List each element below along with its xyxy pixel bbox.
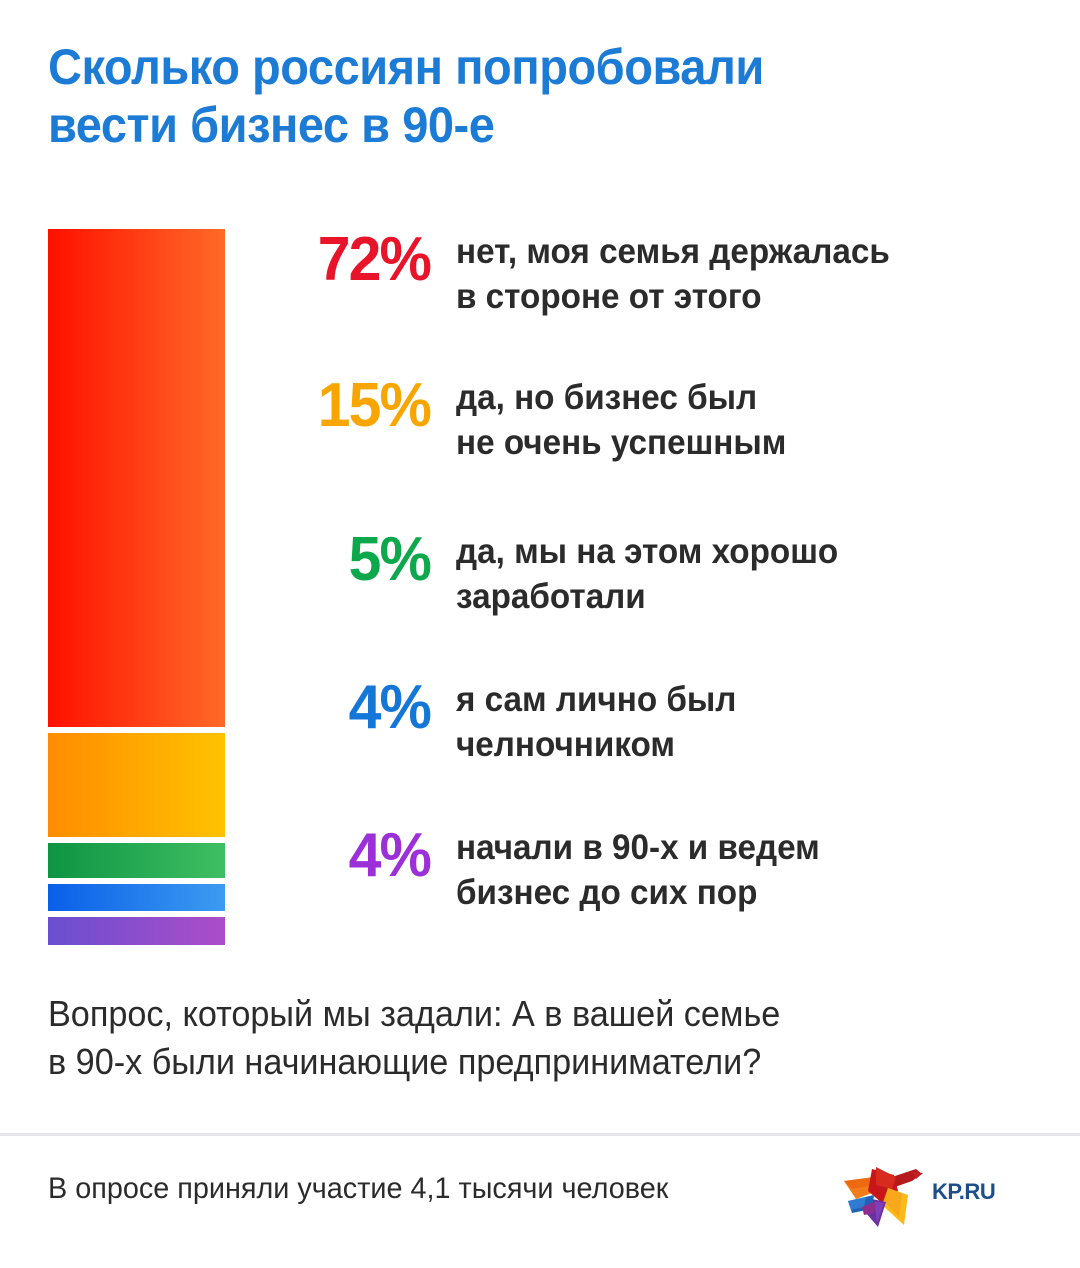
legend-label-1: да, но бизнес был не очень успешным [456,375,786,465]
legend-label-1-line-2: не очень успешным [456,420,786,465]
sample-size-note: В опросе приняли участие 4,1 тысячи чело… [48,1170,668,1208]
legend-label-2: да, мы на этом хорошо заработали [456,529,838,619]
kp-ru-wordmark-text: KP.RU [932,1179,995,1204]
kp-ru-logo[interactable]: KP.RU [842,1152,1042,1232]
legend-label-2-line-2: заработали [456,574,838,619]
swallow-bird-icon [842,1155,926,1229]
title-line-2: вести бизнес в 90-е [48,96,950,154]
stacked-bar-chart [48,229,225,945]
page-title: Сколько россиян попробовали вести бизнес… [48,38,1008,154]
legend-item-3[interactable]: 4% я сам лично был челночником [255,677,1055,767]
legend-label-4: начали в 90-х и ведем бизнес до сих пор [456,825,820,915]
bar-segment-3[interactable] [48,884,225,912]
legend-label-2-line-1: да, мы на этом хорошо [456,529,838,574]
legend-item-2[interactable]: 5% да, мы на этом хорошо заработали [255,529,1055,619]
legend-percent-0: 72% [264,229,430,291]
survey-question: Вопрос, который мы задали: А в вашей сем… [48,990,1028,1086]
kp-ru-wordmark: KP.RU [932,1170,1042,1214]
legend-label-3: я сам лично был челночником [456,677,736,767]
legend-label-4-line-1: начали в 90-х и ведем [456,825,820,870]
legend-label-0-line-1: нет, моя семья держалась [456,229,890,274]
legend-item-0[interactable]: 72% нет, моя семья держалась в стороне о… [255,229,1055,319]
legend-percent-4: 4% [264,825,430,887]
bar-segment-4[interactable] [48,917,225,945]
legend-item-1[interactable]: 15% да, но бизнес был не очень успешным [255,375,1055,465]
legend-label-3-line-2: челночником [456,722,736,767]
legend-item-4[interactable]: 4% начали в 90-х и ведем бизнес до сих п… [255,825,1055,915]
footer-divider [0,1133,1080,1136]
legend-label-4-line-2: бизнес до сих пор [456,870,820,915]
bar-segment-1[interactable] [48,733,225,837]
legend-percent-2: 5% [264,529,430,591]
bar-segment-2[interactable] [48,843,225,878]
legend-label-0: нет, моя семья держалась в стороне от эт… [456,229,890,319]
legend-percent-3: 4% [264,677,430,739]
title-line-1: Сколько россиян попробовали [48,38,950,96]
bar-segment-0[interactable] [48,229,225,727]
question-line-1: Вопрос, который мы задали: А в вашей сем… [48,990,979,1038]
legend-label-3-line-1: я сам лично был [456,677,736,722]
question-line-2: в 90-х были начинающие предприниматели? [48,1038,979,1086]
legend-percent-1: 15% [264,375,430,437]
legend-label-1-line-1: да, но бизнес был [456,375,786,420]
legend-label-0-line-2: в стороне от этого [456,274,890,319]
